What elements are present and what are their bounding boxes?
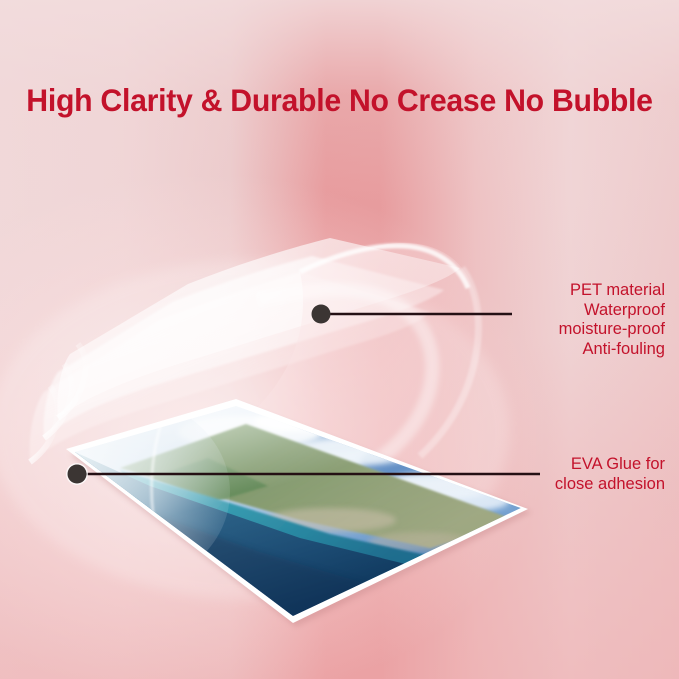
- callout-eva-line-2: close adhesion: [380, 475, 665, 495]
- infographic-canvas: High Clarity & Durable No Crease No Bubb…: [0, 0, 679, 679]
- callout-label-pet: PET material Waterproof moisture-proof A…: [380, 281, 665, 359]
- leader-dot-pet: [312, 305, 331, 324]
- page-title: High Clarity & Durable No Crease No Bubb…: [14, 82, 666, 119]
- callout-pet-line-3: moisture-proof: [380, 320, 665, 340]
- callout-label-eva: EVA Glue for close adhesion: [380, 455, 665, 494]
- callout-pet-line-2: Waterproof: [380, 301, 665, 321]
- leader-dot-eva: [68, 465, 87, 484]
- callout-pet-line-4: Anti-fouling: [380, 340, 665, 360]
- callout-pet-line-1: PET material: [380, 281, 665, 301]
- callout-eva-line-1: EVA Glue for: [380, 455, 665, 475]
